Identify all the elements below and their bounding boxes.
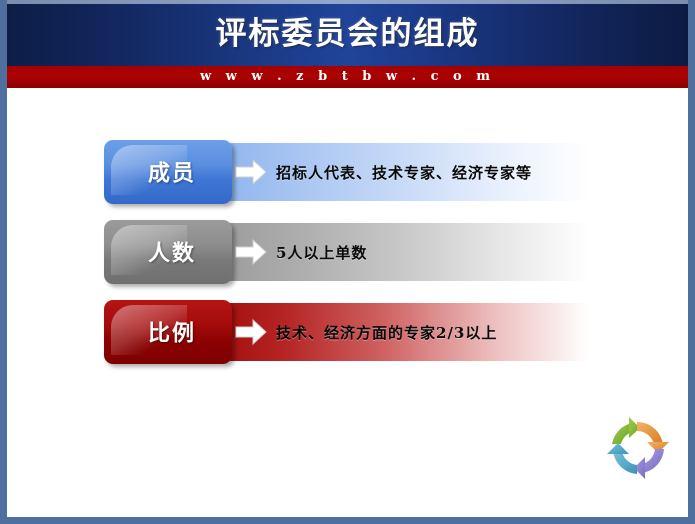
cycle-arrows-logo: [599, 413, 677, 485]
page-title: 评标委员会的组成: [7, 8, 688, 53]
row-label-text: 人数: [104, 235, 222, 267]
website-bar: w w w . z b t b w . c o m: [7, 66, 688, 88]
row-label-text: 比例: [104, 315, 222, 347]
arrow-right-icon: [235, 158, 267, 186]
row-label-chip[interactable]: 人数: [104, 220, 232, 284]
row-label-chip[interactable]: 比例: [104, 300, 232, 364]
content-row: 人数 5人以上单数: [104, 220, 589, 284]
slide-canvas: 评标委员会的组成 w w w . z b t b w . c o m 成员 招标…: [0, 0, 695, 524]
slide-header: 评标委员会的组成: [7, 0, 688, 66]
row-description: 招标人代表、技术专家、经济专家等: [276, 140, 532, 204]
website-url: w w w . z b t b w . c o m: [7, 69, 688, 84]
content-row: 比例 技术、经济方面的专家2/3以上: [104, 300, 589, 364]
slide-body: 成员 招标人代表、技术专家、经济专家等 人数 5人以上单数 比例: [7, 88, 688, 517]
row-description: 5人以上单数: [276, 220, 367, 284]
row-label-chip[interactable]: 成员: [104, 140, 232, 204]
arrow-right-icon: [235, 318, 267, 346]
row-label-text: 成员: [104, 155, 222, 187]
row-bar: [216, 223, 589, 281]
content-row: 成员 招标人代表、技术专家、经济专家等: [104, 140, 589, 204]
arrow-right-icon: [235, 238, 267, 266]
row-description: 技术、经济方面的专家2/3以上: [276, 300, 497, 364]
